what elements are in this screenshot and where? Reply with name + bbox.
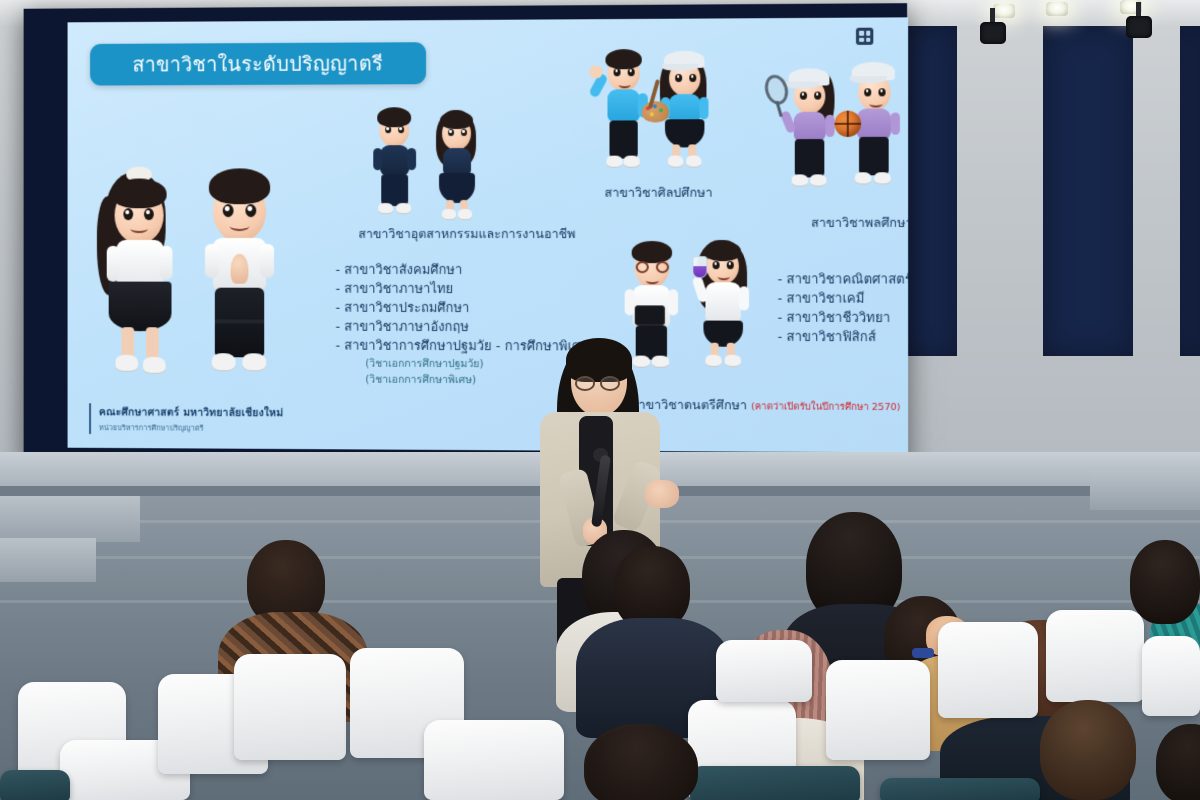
illustration-uniform-boy [193,162,284,383]
wai-hands [231,254,249,284]
caption-art: สาขาวิชาศิลปศึกษา [604,183,712,203]
stage-light-fixture [978,8,1008,48]
slide-title: สาขาวิชาในระดับปริญญาตรี [132,47,382,80]
ceiling-light-2 [1046,2,1068,16]
chair-dark [880,778,1040,800]
illustration-art-girl [656,43,715,172]
projection-screen-bezel: สาขาวิชาในระดับปริญญาตรี [24,3,907,471]
presentation-scene: สาขาวิชาในระดับปริญญาตรี [0,0,1200,800]
chair [1142,636,1200,716]
paint-palette-icon [642,101,669,122]
presentation-slide: สาขาวิชาในระดับปริญญาตรี [68,17,909,452]
presenter-hand-open [645,480,679,508]
glasses-icon [636,261,669,273]
footer-faculty: คณะศึกษาศาสตร์ มหาวิทยาลัยเชียงใหม่ [99,403,283,421]
chair [938,622,1038,718]
list-item: - สาขาวิชาฟิสิกส์ [778,328,909,348]
chair [424,720,564,800]
stage-step-left [0,496,140,542]
audience-front-row-man-head [586,726,698,800]
chair-dark [0,770,70,800]
audience-far-right-man-head [1130,540,1200,624]
illustration-pe-girl [782,58,841,189]
edu-cmu-logo-icon [856,28,873,45]
footer-unit: หน่วยบริหารการศึกษาปริญญาตรี [99,422,283,435]
chair [826,660,930,760]
chair [234,654,346,760]
illustration-industrial-boy [369,105,421,221]
list-item: - สาขาวิชาภาษาไทย [336,280,590,299]
illustration-science-girl [692,234,753,375]
audience-front-right-head [1040,700,1136,800]
stage-step-right [1090,470,1200,510]
illustration-pe-boy [845,54,904,188]
list-item: - สาขาวิชาเคมี [778,289,909,308]
stage-step-left-2 [0,538,96,582]
lab-coat [705,282,740,322]
list-item: - สาขาวิชาชีววิทยา [778,309,909,328]
music-subject-note: (คาดว่าเปิดรับในปีการศึกษา 2570) [751,401,900,413]
acoustic-panel-2 [1043,26,1133,356]
flask-icon [692,256,707,278]
projection-screen: สาขาวิชาในระดับปริญญาตรี [68,17,909,452]
right-subject-list: - สาขาวิชาคณิตศาสตร์ - สาขาวิชาเคมี - สา… [778,270,909,347]
acoustic-panel-3 [1180,26,1200,356]
stage-light-fixture-2 [1124,2,1154,42]
chair-dark [690,766,860,800]
slide-title-banner: สาขาวิชาในระดับปริญญาตรี [90,42,426,85]
presenter-glasses-right [600,376,620,391]
illustration-industrial-girl [431,108,483,222]
caption-industrial: สาขาวิชาอุตสาหกรรมและการงานอาชีพ [358,224,575,244]
list-item: - สาขาวิชาคณิตศาสตร์ [778,270,909,289]
acoustic-panel-1 [905,26,957,356]
list-item: - สาขาวิชาสังคมศึกษา [336,261,590,280]
tablet-icon [635,305,665,325]
caption-pe: สาขาวิชาพลศึกษา [811,213,908,233]
chair [1046,610,1144,702]
chair [716,640,812,702]
presenter-glasses-left [575,376,595,391]
blue-watch [912,648,934,658]
list-item: - สาขาวิชาประถมศึกษา [336,299,590,318]
illustration-uniform-girl [97,171,181,381]
presenter-hair-top [566,338,632,382]
slide-footer: คณะศึกษาศาสตร์ มหาวิทยาลัยเชียงใหม่ หน่ว… [89,403,283,435]
